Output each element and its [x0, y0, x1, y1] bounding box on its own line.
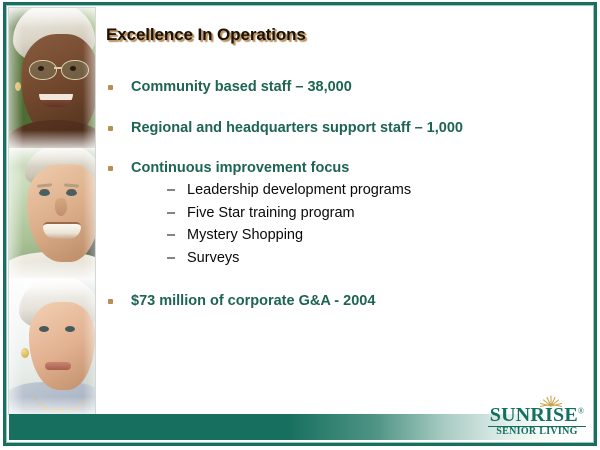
sub-bullet-item: Surveys	[131, 251, 590, 266]
sub-bullet-list: Leadership development programs Five Sta…	[131, 183, 590, 265]
bullet-text: $73 million of corporate G&A - 2004	[131, 293, 375, 309]
logo-wordmark: SUNRISE®	[488, 405, 586, 427]
sunrise-senior-living-logo: SUNRISE® SENIOR LIVING	[488, 394, 586, 442]
sub-bullet-item: Mystery Shopping	[131, 228, 590, 243]
bullet-text: Community based staff – 38,000	[131, 79, 352, 95]
bullet-item: Regional and headquarters support staff …	[100, 120, 590, 137]
sub-bullet-item: Leadership development programs	[131, 183, 590, 198]
bullet-text: Regional and headquarters support staff …	[131, 120, 463, 136]
logo-wordmark-text: SUNRISE	[490, 404, 578, 426]
slide-content: Excellence In Operations Community based…	[100, 7, 590, 410]
bullet-text: Continuous improvement focus	[131, 160, 349, 176]
sub-bullet-item: Five Star training program	[131, 206, 590, 221]
bullet-item: Continuous improvement focus Leadership …	[100, 160, 590, 265]
bullet-item: $73 million of corporate G&A - 2004	[100, 293, 590, 310]
registered-mark: ®	[578, 406, 584, 415]
bullet-item: Community based staff – 38,000	[100, 79, 590, 96]
logo-tagline: SENIOR LIVING	[488, 427, 586, 437]
bullet-list: Community based staff – 38,000 Regional …	[100, 79, 590, 334]
photo-strip	[8, 7, 96, 415]
slide-title: Excellence In Operations	[106, 25, 306, 45]
senior-woman-with-glasses-photo	[9, 8, 96, 150]
presentation-slide: Excellence In Operations Community based…	[0, 0, 600, 450]
senior-woman-with-necklace-photo	[9, 278, 96, 415]
senior-man-smiling-photo	[9, 148, 96, 280]
